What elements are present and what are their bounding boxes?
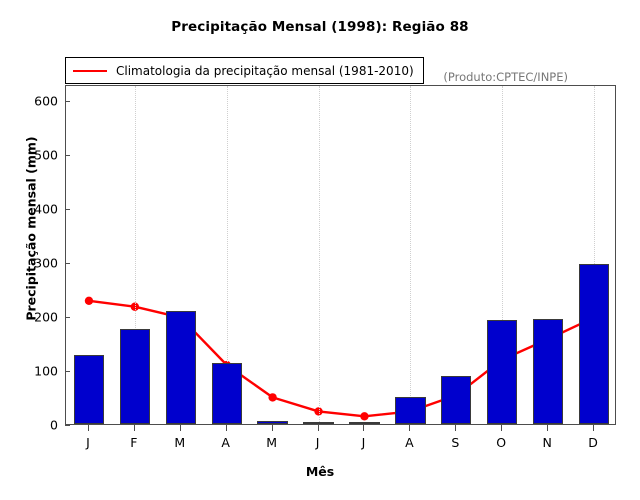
bar-a-3 <box>212 363 242 424</box>
bar-o-9 <box>487 320 517 424</box>
x-axis-tick-label: A <box>389 435 429 450</box>
x-axis-tick-mark <box>455 425 456 431</box>
bar-d-11 <box>579 264 609 424</box>
bar-f-1 <box>120 329 150 424</box>
x-axis-tick-label: J <box>68 435 108 450</box>
y-axis-tick-mark <box>65 317 70 318</box>
climatology-marker-j-6 <box>360 412 368 420</box>
legend-item-label: Climatologia da precipitação mensal (198… <box>116 64 414 78</box>
y-axis-title: Precipitação mensal (mm) <box>24 59 39 399</box>
climatology-marker-m-4 <box>268 393 276 401</box>
bar-j-0 <box>74 355 104 424</box>
source-annotation: (Produto:CPTEC/INPE) <box>443 70 568 84</box>
legend-line-swatch <box>73 70 107 72</box>
x-axis-tick-label: O <box>481 435 521 450</box>
x-axis-tick-label: D <box>573 435 613 450</box>
bar-m-4 <box>257 421 287 424</box>
x-axis-tick-label: M <box>252 435 292 450</box>
x-axis-tick-mark <box>180 425 181 431</box>
y-axis-tick-mark <box>65 209 70 210</box>
chart-legend: Climatologia da precipitação mensal (198… <box>65 57 424 84</box>
bar-n-10 <box>533 319 563 424</box>
x-axis-tick-label: S <box>435 435 475 450</box>
plot-inner <box>66 86 615 424</box>
bar-j-6 <box>349 422 379 424</box>
x-axis-tick-mark <box>134 425 135 431</box>
x-axis-tick-label: J <box>343 435 383 450</box>
x-axis-tick-label: J <box>298 435 338 450</box>
x-axis-tick-label: M <box>160 435 200 450</box>
x-axis-title: Mês <box>0 464 640 479</box>
bar-a-7 <box>395 397 425 424</box>
x-axis-tick-mark <box>547 425 548 431</box>
x-axis-tick-mark <box>593 425 594 431</box>
y-axis-tick-mark <box>65 101 70 102</box>
bar-m-2 <box>166 311 196 424</box>
x-axis-tick-label: F <box>114 435 154 450</box>
x-axis-tick-label: N <box>527 435 567 450</box>
bar-s-8 <box>441 376 471 424</box>
gridline-vertical <box>319 86 320 424</box>
plot-area <box>65 85 616 425</box>
x-axis-tick-mark <box>501 425 502 431</box>
climatology-marker-j-0 <box>85 297 93 305</box>
y-axis-tick-mark <box>65 155 70 156</box>
x-axis-tick-mark <box>363 425 364 431</box>
bar-j-5 <box>303 422 333 424</box>
x-axis-tick-mark <box>88 425 89 431</box>
y-axis-tick-mark <box>65 263 70 264</box>
y-axis-tick-mark <box>65 425 70 426</box>
x-axis-tick-mark <box>226 425 227 431</box>
x-axis-tick-mark <box>272 425 273 431</box>
x-axis-tick-mark <box>409 425 410 431</box>
x-axis-tick-mark <box>318 425 319 431</box>
page-title: Precipitação Mensal (1998): Região 88 <box>0 19 640 35</box>
y-axis-tick-label: 0 <box>12 418 58 433</box>
x-axis-tick-label: A <box>206 435 246 450</box>
gridline-vertical <box>410 86 411 424</box>
y-axis-tick-mark <box>65 371 70 372</box>
chart-figure: Precipitação Mensal (1998): Região 88 01… <box>0 0 640 500</box>
